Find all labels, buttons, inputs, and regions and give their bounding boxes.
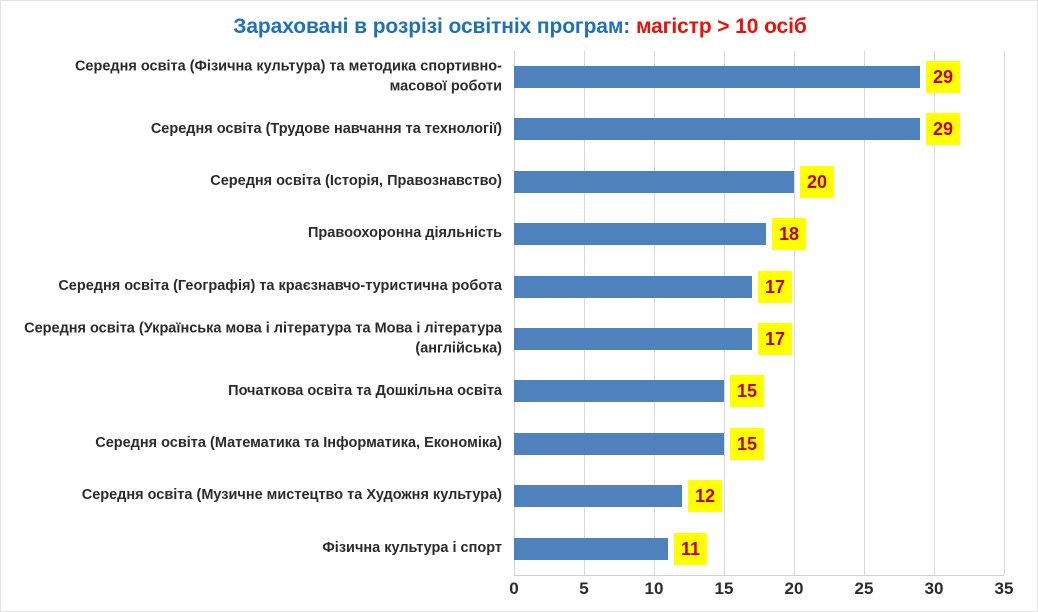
bar-value-label: 12 <box>688 480 722 512</box>
x-tick-label: 10 <box>645 579 664 599</box>
category-label-row: Середня освіта (Математика та Інформатик… <box>1 418 514 470</box>
category-label-row: Середня освіта (Фізична культура) та мет… <box>1 51 514 103</box>
plot-area: 29292018171715151211 <box>514 51 1004 575</box>
bar-row: 29 <box>514 103 1004 155</box>
chart-title-main: Зараховані в розрізі освітніх програм: <box>233 15 636 38</box>
bar-value-label: 11 <box>674 533 707 565</box>
category-label-row: Фізична культура і спорт <box>1 523 514 575</box>
bar[interactable] <box>514 433 724 455</box>
category-label-row: Середня освіта (Історія, Правознавство) <box>1 156 514 208</box>
x-tick-label: 25 <box>855 579 874 599</box>
category-label-row: Середня освіта (Українська мова і літера… <box>1 313 514 365</box>
category-label-row: Правоохоронна діяльність <box>1 208 514 260</box>
category-label: Середня освіта (Математика та Інформатик… <box>18 434 514 454</box>
bar-row: 15 <box>514 365 1004 417</box>
category-label-row: Середня освіта (Географія) та краєзнавчо… <box>1 261 514 313</box>
bar[interactable] <box>514 328 752 350</box>
bar-value-label: 17 <box>758 323 792 355</box>
category-label-row: Середня освіта (Музичне мистецтво та Худ… <box>1 470 514 522</box>
bar-value-label: 20 <box>800 166 834 198</box>
x-tick-label: 20 <box>785 579 804 599</box>
bar-value-label: 15 <box>730 375 764 407</box>
category-label-row: Середня освіта (Трудове навчання та техн… <box>1 103 514 155</box>
x-tick-label: 30 <box>925 579 944 599</box>
bar[interactable] <box>514 485 682 507</box>
category-label-row: Початкова освіта та Дошкільна освіта <box>1 365 514 417</box>
bar-value-label: 29 <box>926 61 960 93</box>
bar-row: 18 <box>514 208 1004 260</box>
x-axis-tick-labels: 05101520253035 <box>514 579 1004 607</box>
category-label: Середня освіта (Географія) та краєзнавчо… <box>18 277 514 297</box>
bar-row: 29 <box>514 51 1004 103</box>
category-label: Середня освіта (Музичне мистецтво та Худ… <box>18 487 514 507</box>
chart-title: Зараховані в розрізі освітніх програм: м… <box>1 15 1038 39</box>
bar[interactable] <box>514 276 752 298</box>
bar[interactable] <box>514 171 794 193</box>
x-tick-label: 15 <box>715 579 734 599</box>
bar-row: 20 <box>514 156 1004 208</box>
bar-value-label: 17 <box>758 271 792 303</box>
category-axis-labels: Середня освіта (Фізична культура) та мет… <box>1 51 514 575</box>
bar-value-label: 15 <box>730 428 764 460</box>
bar-row: 11 <box>514 523 1004 575</box>
x-tick-label: 0 <box>509 579 518 599</box>
bar-row: 17 <box>514 313 1004 365</box>
category-label: Початкова освіта та Дошкільна освіта <box>18 382 514 402</box>
bar-value-label: 29 <box>926 113 960 145</box>
category-label: Фізична культура і спорт <box>18 539 514 559</box>
bar[interactable] <box>514 66 920 88</box>
gridline-35 <box>1004 51 1005 575</box>
x-axis-line <box>514 575 1004 576</box>
category-label: Середня освіта (Трудове навчання та техн… <box>18 120 514 140</box>
category-label: Середня освіта (Фізична культура) та мет… <box>18 58 514 97</box>
category-label: Середня освіта (Історія, Правознавство) <box>18 172 514 192</box>
bar[interactable] <box>514 223 766 245</box>
bar[interactable] <box>514 380 724 402</box>
x-tick-label: 35 <box>995 579 1014 599</box>
bar-row: 15 <box>514 418 1004 470</box>
bar-value-label: 18 <box>772 218 806 250</box>
chart-title-accent: магістр > 10 осіб <box>636 15 807 38</box>
chart-container: Зараховані в розрізі освітніх програм: м… <box>0 0 1038 612</box>
bar-row: 12 <box>514 470 1004 522</box>
x-tick-label: 5 <box>579 579 588 599</box>
bar[interactable] <box>514 538 668 560</box>
category-label: Правоохоронна діяльність <box>18 225 514 245</box>
bar-row: 17 <box>514 261 1004 313</box>
category-label: Середня освіта (Українська мова і літера… <box>18 320 514 359</box>
bar[interactable] <box>514 118 920 140</box>
